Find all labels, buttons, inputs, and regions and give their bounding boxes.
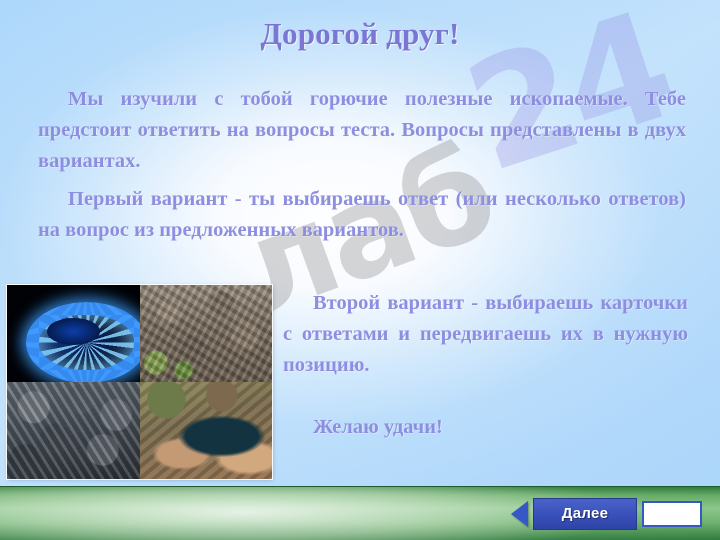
- image-oil-shale-hands: [140, 382, 273, 479]
- presentation-slide: 24 лаб Дорогой друг! Мы изучили с тобой …: [0, 0, 720, 540]
- paragraph-variant-one: Первый вариант - ты выбираешь ответ (или…: [38, 184, 686, 246]
- next-button[interactable]: Далее: [533, 498, 637, 530]
- page-title: Дорогой друг!: [0, 16, 720, 52]
- paragraph-intro: Мы изучили с тобой горючие полезные иско…: [38, 84, 686, 177]
- paragraph-good-luck: Желаю удачи!: [283, 412, 688, 443]
- navigation-controls: Далее: [511, 498, 702, 530]
- blank-input-box[interactable]: [642, 501, 702, 527]
- bottom-navigation-bar: Далее: [0, 486, 720, 540]
- paragraph-variant-two: Второй вариант - выбираешь карточки с от…: [283, 288, 688, 381]
- image-coal-lumps: [7, 382, 140, 479]
- image-gas-burner-flame: [7, 285, 140, 382]
- back-triangle-icon[interactable]: [511, 501, 528, 527]
- image-peat-ground: [140, 285, 273, 382]
- image-collage: [7, 285, 272, 479]
